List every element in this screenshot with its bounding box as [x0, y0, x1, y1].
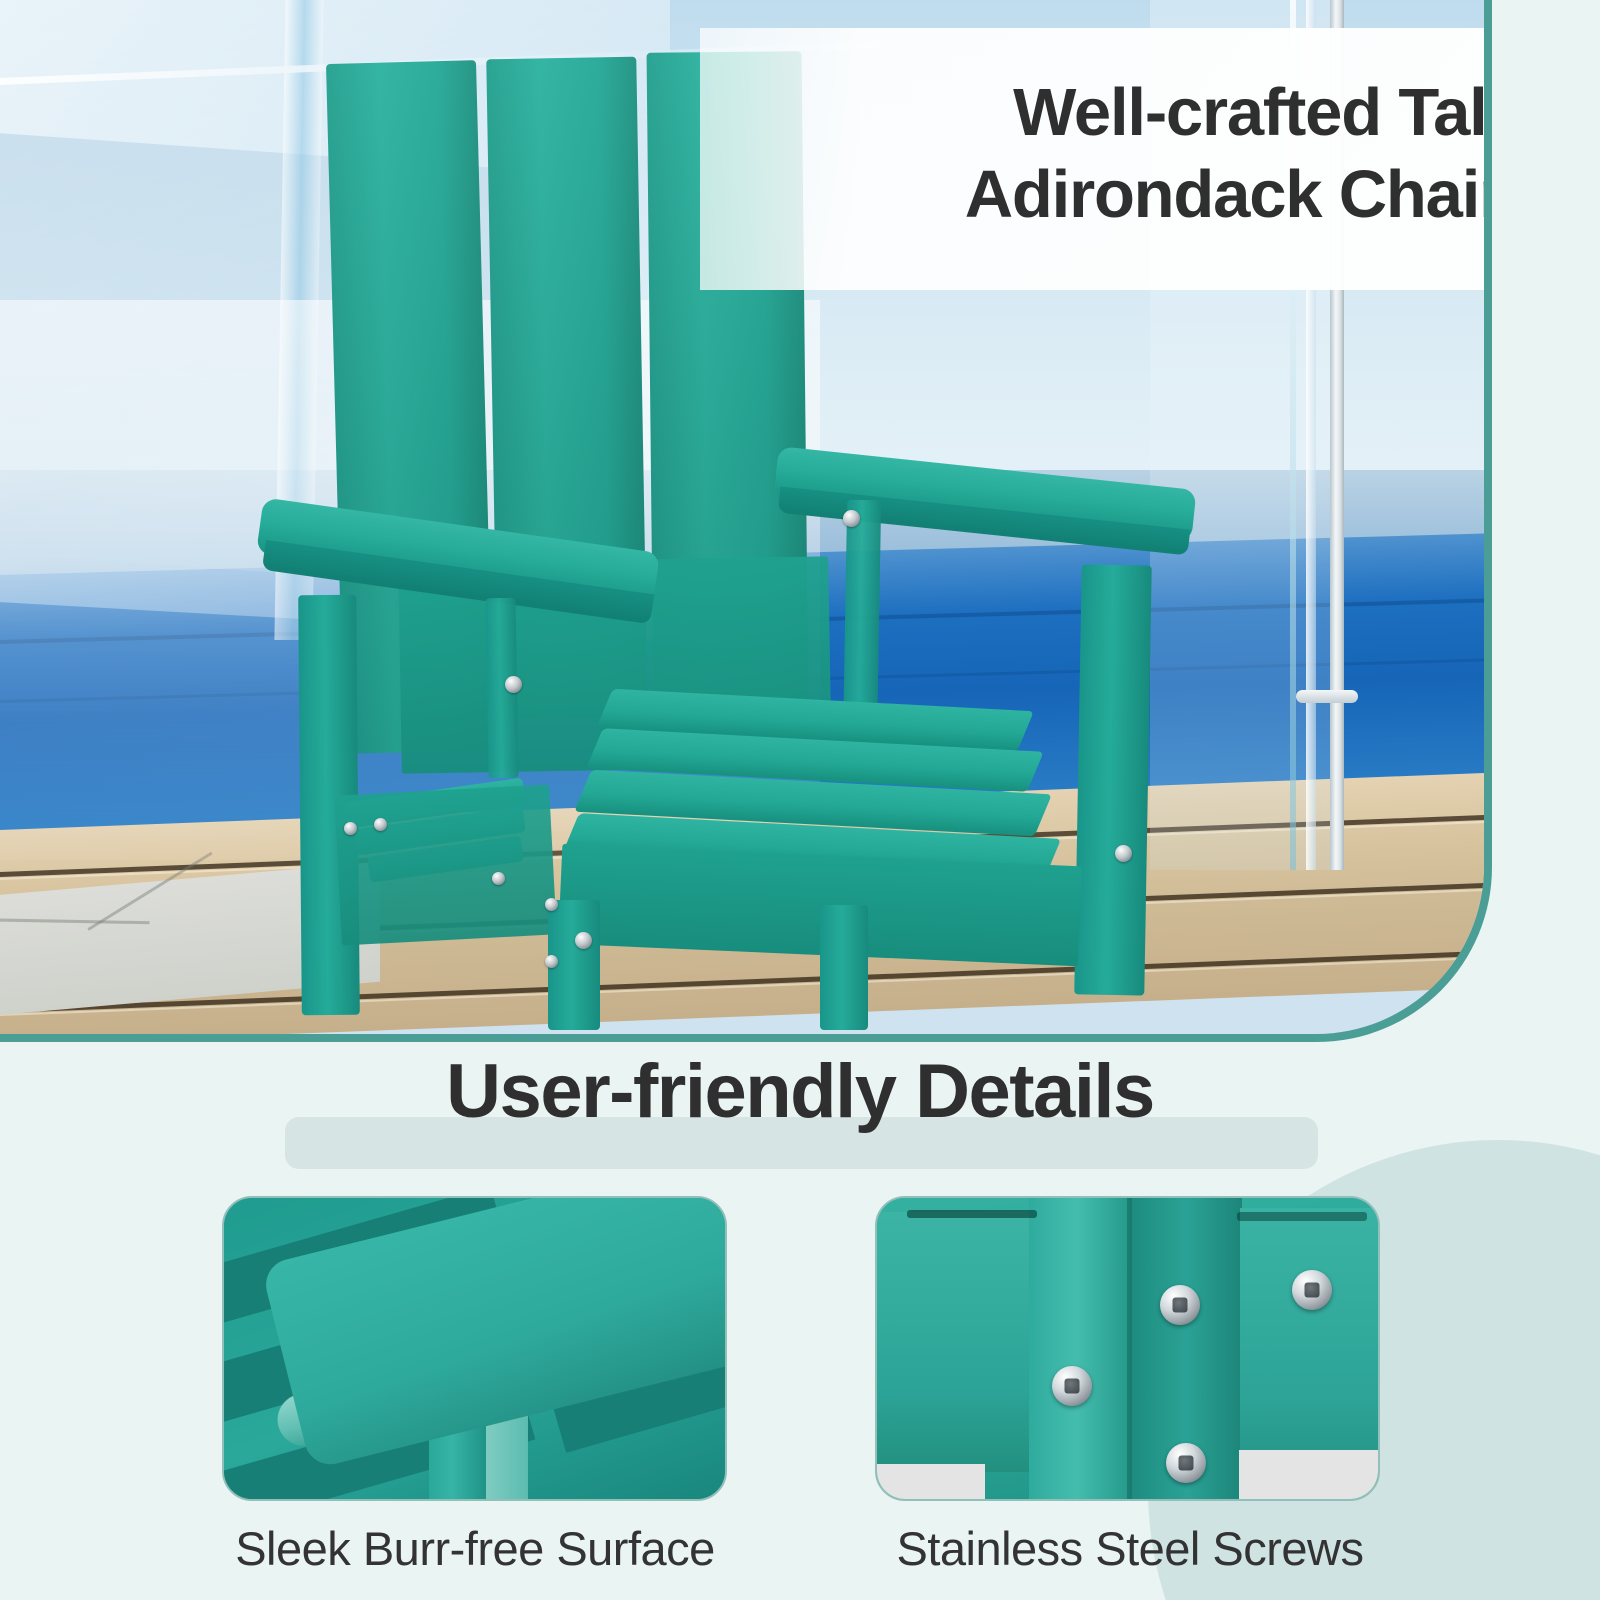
background-gap-left	[877, 1464, 985, 1501]
detail-card-surface	[222, 1196, 727, 1501]
stainless-screw-4	[1166, 1443, 1206, 1483]
page-title: Well-crafted Tall Adirondack Chair	[965, 72, 1484, 235]
detail-caption-screws: Stainless Steel Screws	[855, 1521, 1405, 1576]
background-gap-right	[1239, 1450, 1380, 1501]
section-title: User-friendly Details	[0, 1048, 1600, 1135]
detail-card-screws	[875, 1196, 1380, 1501]
panel-top-shadow-left	[907, 1210, 1037, 1218]
marketing-graphic: Well-crafted Tall Adirondack Chair User-…	[0, 0, 1600, 1600]
stainless-screw-2	[1160, 1285, 1200, 1325]
joint-seam	[1127, 1198, 1132, 1501]
panel-top-shadow-right	[1237, 1212, 1367, 1221]
screw-armrest-left	[505, 676, 522, 693]
hero-image: Well-crafted Tall Adirondack Chair	[0, 0, 1484, 1034]
screw-side-3	[492, 872, 505, 885]
front-leg-right	[1074, 564, 1151, 995]
screw-leg-3	[545, 955, 558, 968]
side-panel-left	[877, 1212, 1032, 1472]
hero-image-frame: Well-crafted Tall Adirondack Chair	[0, 0, 1492, 1042]
screw-joint-closeup-image	[877, 1198, 1378, 1499]
screw-leg-2	[575, 932, 592, 949]
screw-armrest-right	[843, 510, 860, 527]
screw-leg-right	[1115, 845, 1132, 862]
stainless-screw-3	[1292, 1270, 1332, 1310]
rear-leg-right	[820, 905, 868, 1030]
joint-post-front	[1029, 1198, 1134, 1501]
screw-side-1	[344, 822, 357, 835]
detail-caption-surface: Sleek Burr-free Surface	[200, 1521, 750, 1576]
headline-banner: Well-crafted Tall Adirondack Chair	[700, 28, 1484, 290]
side-panel-right	[1240, 1208, 1380, 1488]
screw-side-2	[374, 818, 387, 831]
screw-leg-1	[545, 898, 558, 911]
stainless-screw-1	[1052, 1366, 1092, 1406]
armrest-edge-closeup-image	[224, 1198, 725, 1499]
side-apron-left	[334, 784, 557, 945]
